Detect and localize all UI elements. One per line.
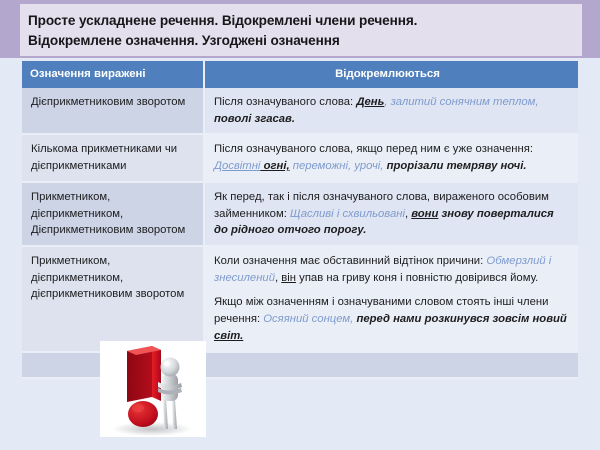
slide-title-box: Просте ускладнене речення. Відокремлені …: [20, 4, 582, 56]
cell-expressed-by: Прикметником, дієприкметником, Дієприкме…: [22, 183, 205, 247]
table-header-row: Означення виражені Відокремлюються: [22, 61, 578, 88]
example-bold: поволі згасав.: [214, 113, 295, 125]
example-blue: переможні, урочі,: [290, 160, 384, 172]
example-blue: Щасливі і схвильовані: [290, 208, 405, 220]
column-header-separated: Відокремлюються: [205, 61, 578, 88]
example-2-blue: Осяяний сонцем,: [263, 313, 353, 325]
grammar-rules-table: Означення виражені Відокремлюються Дієпр…: [22, 61, 578, 379]
cell-rule: Коли означення має обставинний відтінок …: [205, 247, 578, 353]
exclamation-mark-image: [100, 341, 206, 437]
example-plain: упав на гриву коня і повністю довірився …: [296, 272, 538, 284]
cell-rule: Після означуваного слова: День, залитий …: [205, 88, 578, 135]
example-2-bold-underlined: світ.: [214, 330, 243, 342]
exclamation-figure-icon: [100, 341, 206, 437]
example-blue: , залитий сонячним теплом,: [384, 96, 538, 108]
cell-expressed-by: Прикметником, дієприкметником, дієприкме…: [22, 247, 205, 353]
example-2-bold: перед нами розкинувся зовсім новий: [353, 313, 567, 325]
cell-rule: Після означуваного слова, якщо перед ним…: [205, 135, 578, 182]
example-blue-underlined: Досвітні: [214, 160, 260, 172]
table-row: Кількома прикметниками чи дієприкметника…: [22, 135, 578, 182]
example-bold-underlined: огні,: [260, 160, 289, 172]
example-bold: прорізали темряву ночі.: [383, 160, 526, 172]
cell-expressed-by: Дієприкметниковим зворотом: [22, 88, 205, 135]
table-row: Дієприкметниковим зворотом Після означув…: [22, 88, 578, 135]
cell-expressed-by: Кількома прикметниками чи дієприкметника…: [22, 135, 205, 182]
rule-intro: Коли означення має обставинний відтінок …: [214, 255, 486, 267]
cell-empty-right: [205, 353, 578, 379]
rule-intro: Після означуваного слова, якщо перед ним…: [214, 143, 533, 155]
rule-intro: Після означуваного слова:: [214, 96, 356, 108]
table-row: Прикметником, дієприкметником, Дієприкме…: [22, 183, 578, 247]
example-underlined: День: [356, 96, 384, 108]
page-title: Просте ускладнене речення. Відокремлені …: [28, 11, 572, 51]
slide-canvas: Просте ускладнене речення. Відокремлені …: [0, 0, 600, 450]
example-bold-underlined: вони: [411, 208, 438, 220]
example-bold-underlined: він: [281, 272, 296, 284]
table-row: Прикметником, дієприкметником, дієприкме…: [22, 247, 578, 353]
column-header-expressed-by: Означення виражені: [22, 61, 205, 88]
cell-rule: Як перед, так і після означуваного слова…: [205, 183, 578, 247]
